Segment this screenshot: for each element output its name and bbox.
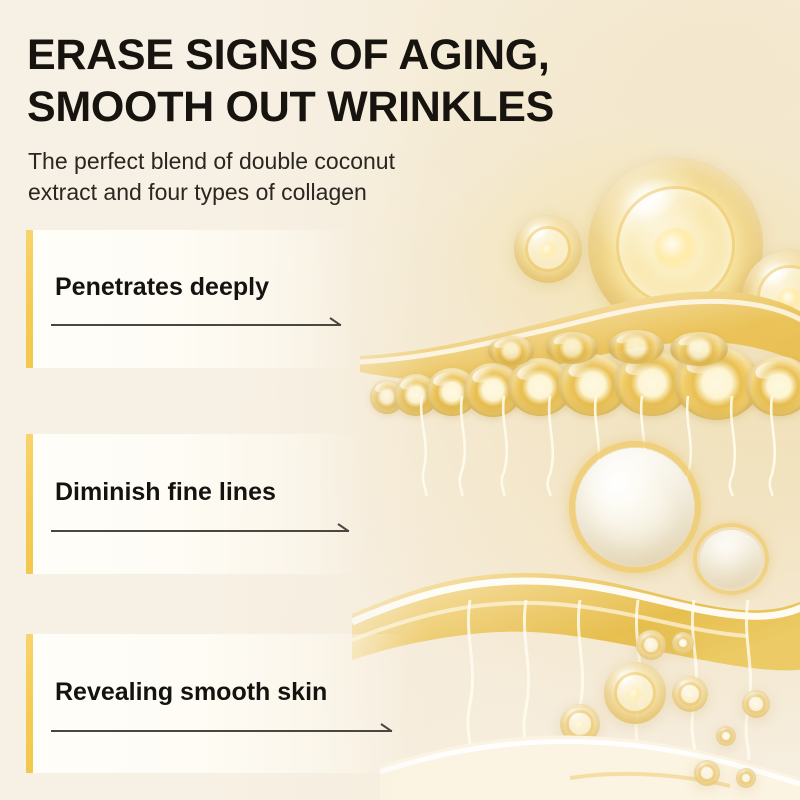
accent-bar [26,634,33,773]
benefit-item-1: Penetrates deeply [26,230,356,368]
benefit-item-2: Diminish fine lines [26,434,366,574]
arrow-shaft [51,324,341,326]
subtitle-line-1: The perfect blend of double coconut [28,148,395,174]
benefit-label-1: Penetrates deeply [55,273,269,302]
subtitle: The perfect blend of double coconut extr… [28,146,498,208]
subtitle-line-2: extract and four types of collagen [28,179,367,205]
headline-line-1: ERASE SIGNS OF AGING, [27,31,550,79]
headline-line-2: SMOOTH OUT WRINKLES [27,83,554,131]
page-title: ERASE SIGNS OF AGING, SMOOTH OUT WRINKLE… [27,29,647,133]
arrow-shaft [51,530,349,532]
accent-bar [26,434,33,574]
benefit-label-2: Diminish fine lines [55,478,276,507]
arrow-shaft [51,730,392,732]
benefit-item-3: Revealing smooth skin [26,634,408,773]
accent-bar [26,230,33,368]
benefit-label-3: Revealing smooth skin [55,678,327,707]
